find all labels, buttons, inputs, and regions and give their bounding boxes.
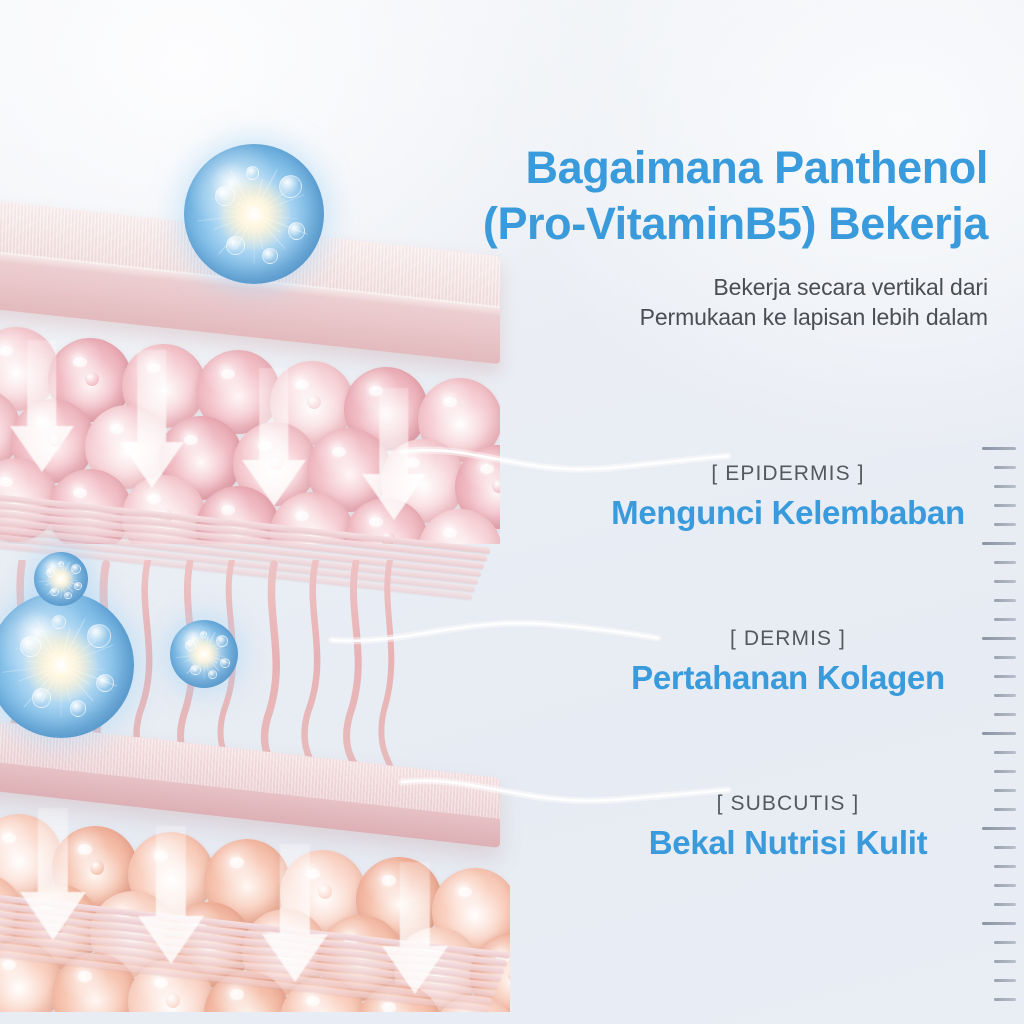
- layer-label-dermis: [ DERMIS ] Pertahanan Kolagen: [578, 627, 998, 697]
- ruler-tick-major: [982, 637, 1016, 640]
- title-line-2: (Pro-VitaminB5) Bekerja: [392, 196, 988, 252]
- ruler-tick-minor: [994, 466, 1016, 469]
- panthenol-droplet-sphere-hero: [184, 144, 324, 284]
- droplet-inner-bubble: [288, 222, 305, 239]
- ruler-tick-minor: [994, 903, 1016, 906]
- droplet-inner-bubble: [87, 624, 111, 648]
- droplet-inner-bubble: [185, 640, 196, 651]
- ruler-tick-minor: [994, 998, 1016, 1001]
- page-subtitle: Bekerja secara vertikal dari Permukaan k…: [420, 272, 988, 332]
- ruler-tick-minor: [994, 751, 1016, 754]
- depth-scale-ruler: [976, 447, 1024, 1024]
- page-title: Bagaimana Panthenol (Pro-VitaminB5) Beke…: [392, 140, 988, 252]
- droplet-ray: [253, 214, 254, 264]
- droplet-inner-bubble: [96, 674, 114, 692]
- layer-caption: [ SUBCUTIS ]: [578, 792, 998, 816]
- ruler-tick-minor: [994, 979, 1016, 982]
- subtitle-line-2: Permukaan ke lapisan lebih dalam: [420, 302, 988, 332]
- ruler-tick-minor: [994, 884, 1016, 887]
- ruler-tick-minor: [994, 960, 1016, 963]
- droplet-inner-bubble: [279, 175, 302, 198]
- layer-benefit: Bekal Nutrisi Kulit: [578, 824, 998, 862]
- ruler-tick-minor: [994, 599, 1016, 602]
- ruler-tick-minor: [994, 504, 1016, 507]
- ruler-tick-minor: [994, 675, 1016, 678]
- droplet-inner-bubble: [246, 166, 259, 179]
- ruler-tick-major: [982, 732, 1016, 735]
- ruler-tick-minor: [994, 789, 1016, 792]
- layer-benefit: Mengunci Kelembaban: [578, 494, 998, 532]
- infographic-canvas: Bagaimana Panthenol (Pro-VitaminB5) Beke…: [0, 0, 1024, 1024]
- ruler-tick-minor: [994, 846, 1016, 849]
- ruler-tick-minor: [994, 580, 1016, 583]
- droplet-inner-bubble: [32, 688, 52, 708]
- title-line-1: Bagaimana Panthenol: [392, 140, 988, 196]
- droplet-inner-bubble: [190, 665, 200, 675]
- droplet-inner-bubble: [70, 700, 87, 717]
- layer-benefit: Pertahanan Kolagen: [578, 659, 998, 697]
- panthenol-droplet-sphere: [170, 620, 238, 688]
- layer-label-subcutis: [ SUBCUTIS ] Bekal Nutrisi Kulit: [578, 792, 998, 862]
- ruler-tick-minor: [994, 523, 1016, 526]
- ruler-tick-minor: [994, 561, 1016, 564]
- droplet-inner-bubble: [64, 592, 71, 599]
- droplet-inner-bubble: [226, 236, 245, 255]
- ruler-tick-minor: [994, 808, 1016, 811]
- ruler-tick-minor: [994, 656, 1016, 659]
- ruler-tick-minor: [994, 865, 1016, 868]
- ruler-tick-major: [982, 542, 1016, 545]
- ruler-tick-minor: [994, 713, 1016, 716]
- ruler-tick-major: [982, 922, 1016, 925]
- panthenol-droplet-sphere: [0, 592, 134, 738]
- layer-label-epidermis: [ EPIDERMIS ] Mengunci Kelembaban: [578, 462, 998, 532]
- droplet-inner-bubble: [71, 564, 81, 574]
- droplet-inner-bubble: [52, 615, 66, 629]
- ruler-tick-minor: [994, 770, 1016, 773]
- droplet-inner-bubble: [208, 670, 217, 679]
- droplet-ray: [60, 665, 61, 718]
- panthenol-droplet-sphere: [34, 552, 88, 606]
- ruler-tick-major: [982, 827, 1016, 830]
- subtitle-line-1: Bekerja secara vertikal dari: [420, 272, 988, 302]
- panthenol-droplet-spheres: [0, 222, 520, 1024]
- droplet-inner-bubble: [220, 658, 229, 667]
- droplet-inner-bubble: [20, 636, 41, 657]
- ruler-tick-minor: [994, 485, 1016, 488]
- droplet-inner-bubble: [215, 186, 235, 206]
- ruler-tick-minor: [994, 694, 1016, 697]
- ruler-tick-minor: [994, 618, 1016, 621]
- droplet-inner-bubble: [262, 248, 278, 264]
- layer-caption: [ DERMIS ]: [578, 627, 998, 651]
- skin-cross-section-illustration: [0, 222, 520, 1024]
- ruler-tick-major: [982, 447, 1016, 450]
- ruler-tick-minor: [994, 941, 1016, 944]
- layer-caption: [ EPIDERMIS ]: [578, 462, 998, 486]
- droplet-inner-bubble: [58, 561, 64, 567]
- droplet-inner-bubble: [74, 582, 82, 590]
- droplet-inner-bubble: [50, 588, 58, 596]
